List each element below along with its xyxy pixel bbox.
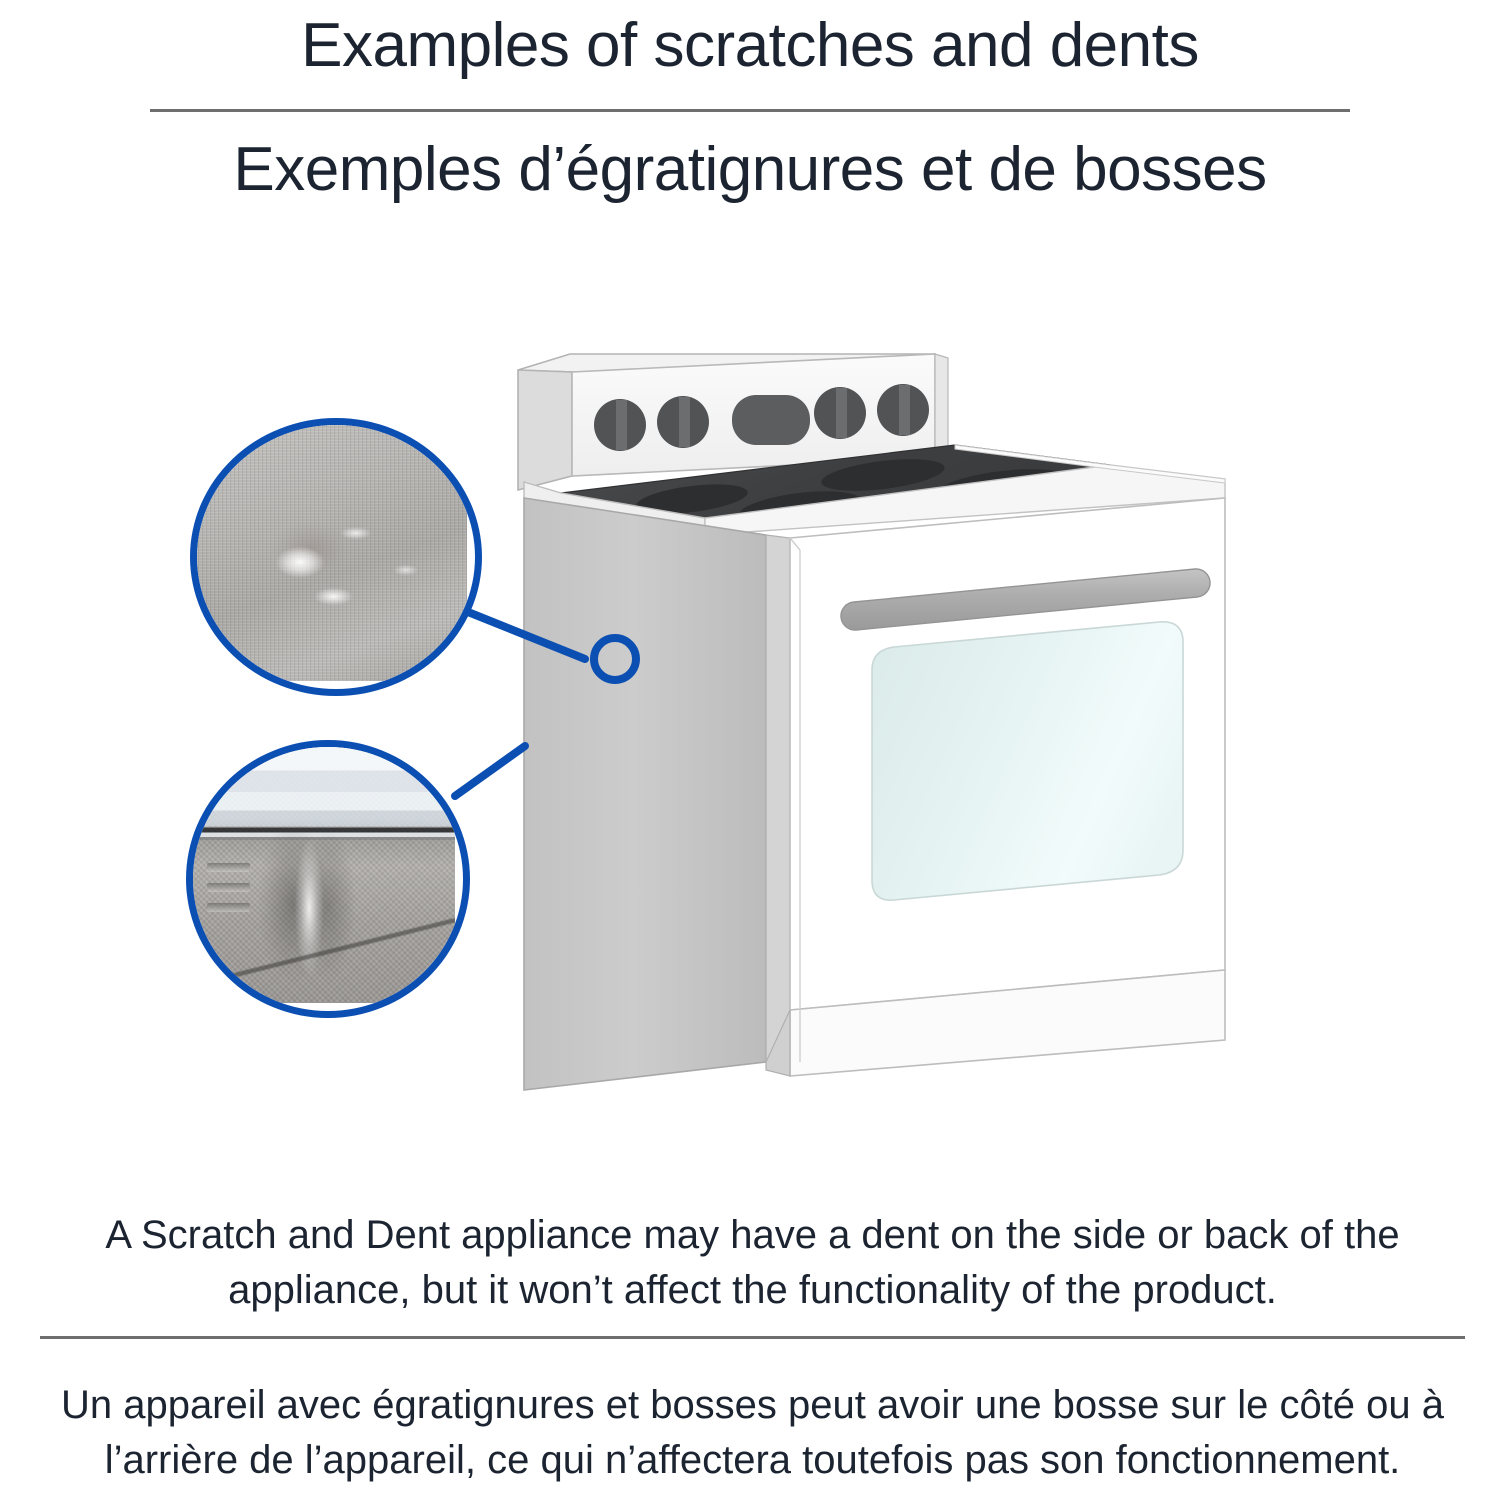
oven-door-window [872,622,1183,900]
knob-4[interactable] [877,384,929,436]
vent-slots [207,863,250,926]
stove-illustration [0,250,1500,1150]
stove-left-side-panel [524,498,790,1090]
scratch-photo [190,418,467,681]
knob-1[interactable] [594,399,646,451]
page-title-french: Exemples d’égratignures et de bosses [0,132,1500,208]
scratch-closeup-circle [190,418,482,696]
knob-3[interactable] [814,387,866,439]
leader-line-dent [455,746,525,796]
dent-closeup-circle [186,740,470,1018]
caption-divider [40,1336,1465,1339]
caption-english: A Scratch and Dent appliance may have a … [40,1208,1465,1318]
caption-french: Un appareil avec égratignures et bosses … [20,1378,1485,1488]
poster-canvas: Examples of scratches and dents Exemples… [0,0,1500,1500]
heading-divider [150,109,1350,112]
display-panel[interactable] [732,395,810,445]
knob-2[interactable] [657,396,709,448]
page-title-english: Examples of scratches and dents [0,8,1500,84]
dent-photo [186,740,455,1003]
